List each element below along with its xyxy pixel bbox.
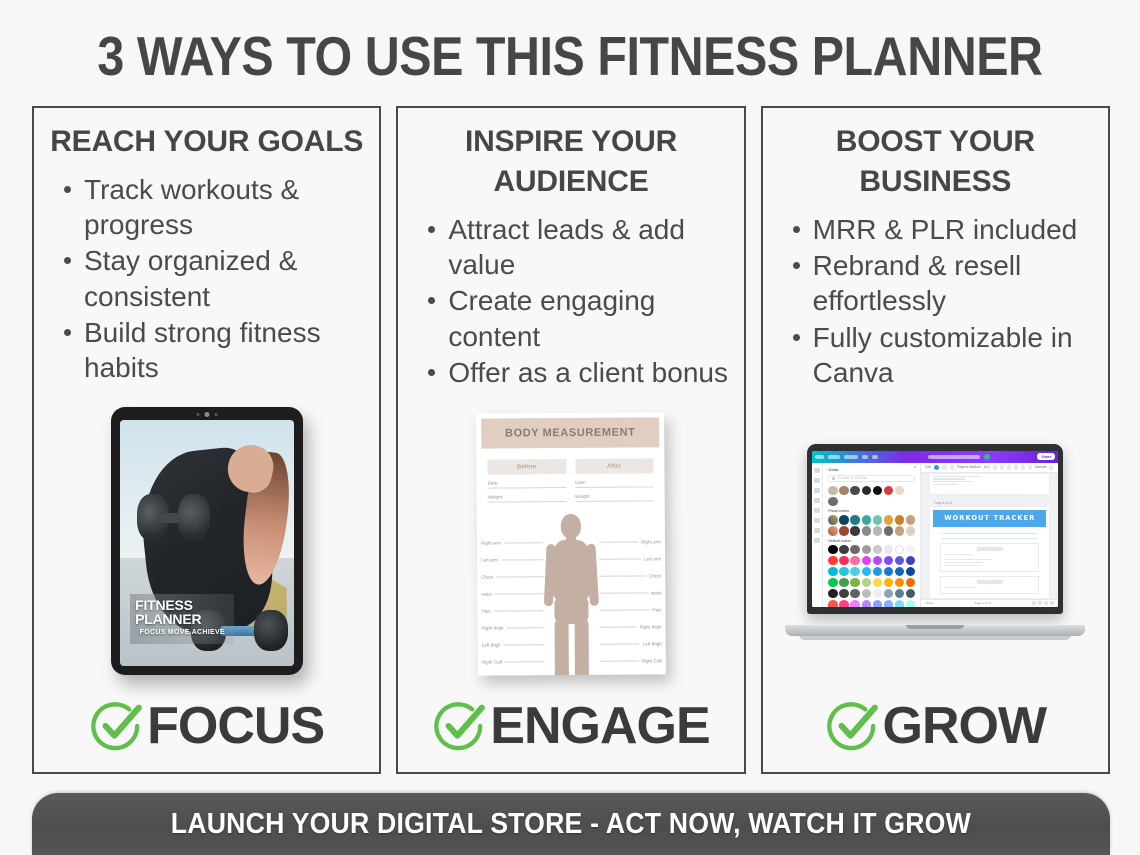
color-swatch[interactable] (895, 556, 904, 565)
measurement-label: Hips (481, 608, 490, 613)
topbar-menu-file[interactable] (815, 455, 824, 459)
list-item: Right arm (481, 534, 543, 551)
cover-subtitle: FOCUS MOVE ACHIEVE (135, 629, 229, 638)
laptop-mockup-visual: Share (769, 391, 1102, 696)
list-item: Right Calf (482, 653, 544, 670)
document-title[interactable] (928, 455, 980, 459)
color-swatch[interactable] (828, 578, 837, 587)
color-swatch[interactable] (884, 545, 893, 554)
color-swatch[interactable] (906, 556, 915, 565)
card-bullet-list: Track workouts & progress Stay organized… (40, 172, 373, 387)
underline-icon[interactable] (1007, 465, 1011, 470)
write-in-rule (600, 660, 639, 661)
measurement-label: Chest (649, 573, 661, 578)
color-swatch[interactable] (895, 515, 904, 524)
help-icon[interactable] (1050, 601, 1054, 605)
color-swatch[interactable] (862, 556, 871, 565)
card-bullet-list: MRR & PLR included Rebrand & resell effo… (769, 212, 1102, 391)
write-in-rule (495, 593, 544, 594)
measurement-label: Right thigh (640, 624, 662, 629)
panel-title: Color (828, 467, 915, 472)
measurement-label: Right arm (641, 539, 661, 544)
color-swatch[interactable] (884, 600, 893, 607)
write-in-rule (494, 610, 544, 611)
color-swatch[interactable] (839, 545, 848, 554)
dumbbell-icon (137, 494, 210, 541)
color-swatch[interactable] (884, 515, 893, 524)
tablet-device: FITNESS PLANNER FOCUS MOVE ACHIEVE (111, 407, 303, 675)
canva-topbar: Share (812, 451, 1058, 463)
uploads-tool-icon[interactable] (814, 508, 820, 513)
badge-grow: GROW (769, 696, 1102, 772)
crop-icon[interactable] (950, 465, 954, 470)
color-swatch[interactable] (850, 545, 859, 554)
canva-canvas-area: Edit Poppins Medium 14.2 (921, 463, 1058, 607)
before-label: Before (487, 459, 566, 475)
write-in-rule (501, 559, 543, 560)
italic-icon[interactable] (1000, 465, 1004, 470)
color-swatch[interactable] (828, 545, 837, 554)
measurement-label: Left thigh (482, 642, 501, 647)
color-swatch[interactable] (862, 486, 871, 495)
color-swatch[interactable] (850, 486, 859, 495)
page-indicator: Page 4 of 47 (929, 499, 1050, 506)
after-column: After Date: Weight: (575, 458, 654, 502)
sheet-body: Right arm Left arm Chest waist Hips Righ… (477, 511, 666, 675)
photo-colors-grid (828, 515, 915, 536)
color-swatch[interactable] (873, 578, 882, 587)
badge-engage: ENGAGE (404, 696, 737, 772)
align-icon[interactable] (1014, 465, 1018, 470)
color-swatch[interactable] (828, 567, 837, 576)
topbar-menu-home[interactable] (828, 455, 840, 459)
badge-label: GROW (883, 696, 1047, 756)
edit-button[interactable]: Edit (925, 465, 931, 470)
search-icon (832, 477, 835, 480)
card-bullet-list: Attract leads & add value Create engagin… (404, 212, 737, 391)
topbar-menu-editing[interactable] (844, 455, 858, 459)
badge-focus: FOCUS (40, 696, 373, 772)
measurement-label: Right Calf (482, 659, 502, 664)
list-item: MRR & PLR included (787, 212, 1096, 247)
list-item: Right thigh (482, 619, 544, 636)
check-circle-icon (89, 698, 145, 754)
search-placeholder: Try 'blue' or '#00c4cc' (837, 476, 867, 480)
bold-icon[interactable] (993, 465, 997, 470)
color-swatch[interactable] (884, 486, 893, 495)
color-swatch[interactable] (895, 567, 904, 576)
color-swatch[interactable] (828, 600, 837, 607)
color-swatch[interactable] (895, 578, 904, 587)
list-item: Left calf (600, 669, 662, 675)
write-in-rule (600, 626, 637, 627)
color-swatch[interactable] (884, 578, 893, 587)
measurement-sheet-visual: BODY MEASUREMENT Before Date: Weight: Af… (404, 391, 737, 696)
color-swatch[interactable] (850, 556, 859, 565)
color-swatch[interactable] (873, 556, 882, 565)
font-size-input[interactable]: 14.2 (984, 465, 990, 470)
color-swatch[interactable] (839, 600, 848, 607)
color-swatch[interactable] (839, 486, 848, 495)
list-item: Hips (599, 601, 661, 618)
list-item: Left thigh (600, 635, 662, 652)
write-in-rule (600, 643, 640, 644)
color-swatch[interactable] (906, 589, 915, 598)
canva-toolbar: Edit Poppins Medium 14.2 (921, 463, 1058, 473)
canva-workspace: × Color Try 'blue' or '#00c4cc' (812, 463, 1058, 607)
write-in-rule (504, 644, 544, 645)
projects-tool-icon[interactable] (814, 528, 820, 533)
list-item: Chest (481, 568, 543, 585)
canva-document-wrap: Page 4 of 47 WORKOUT TRACKER (921, 473, 1058, 599)
color-swatch[interactable] (884, 567, 893, 576)
card-heading: INSPIRE YOUR AUDIENCE (404, 122, 737, 202)
color-swatch[interactable] (895, 589, 904, 598)
color-swatch[interactable] (850, 526, 859, 535)
elements-tool-icon[interactable] (814, 478, 820, 483)
sheet-header: BODY MEASUREMENT (481, 417, 659, 448)
laptop-base (785, 625, 1085, 636)
color-swatch[interactable] (828, 515, 837, 524)
color-swatch[interactable] (884, 589, 893, 598)
card-inspire-your-audience: INSPIRE YOUR AUDIENCE Attract leads & ad… (396, 106, 745, 774)
color-swatch[interactable] (906, 600, 915, 607)
photo-colors-label: Photo colors (828, 509, 915, 513)
write-in-rule (504, 542, 543, 543)
laptop-lid: Share (807, 444, 1063, 614)
color-swatch[interactable] (873, 600, 882, 607)
color-swatch[interactable] (850, 589, 859, 598)
color-swatch[interactable] (895, 600, 904, 607)
tablet-cover-text: FITNESS PLANNER FOCUS MOVE ACHIEVE (130, 594, 234, 644)
text-tool-icon[interactable] (814, 488, 820, 493)
close-icon[interactable]: × (913, 466, 916, 471)
color-swatch[interactable] (862, 515, 871, 524)
check-circle-icon (432, 698, 488, 754)
share-button[interactable]: Share (1037, 453, 1055, 460)
color-swatch[interactable] (862, 600, 871, 607)
color-swatch[interactable] (906, 526, 915, 535)
measurement-label: Right Calf (642, 658, 662, 663)
body-measurement-sheet: BODY MEASUREMENT Before Date: Weight: Af… (476, 412, 666, 675)
after-date-field: Date: (575, 479, 654, 488)
write-in-rule (599, 609, 649, 610)
previous-page-preview[interactable] (929, 473, 1050, 495)
spacing-icon[interactable] (1028, 465, 1032, 470)
measurement-label: waist (481, 591, 492, 596)
tablet-mockup-visual: FITNESS PLANNER FOCUS MOVE ACHIEVE (40, 386, 373, 696)
write-in-rule (599, 592, 648, 593)
list-item: Attract leads & add value (422, 212, 731, 283)
measurement-label: Left thigh (643, 641, 662, 646)
measurement-label: Left arm (644, 556, 661, 561)
check-circle-icon (825, 698, 881, 754)
color-swatch[interactable] (884, 526, 893, 535)
card-heading: BOOST YOUR BUSINESS (769, 122, 1102, 202)
infographic-page: 3 WAYS TO USE THIS FITNESS PLANNER REACH… (0, 0, 1140, 855)
color-swatch[interactable] (862, 545, 871, 554)
list-item: Build strong fitness habits (58, 315, 367, 386)
cards-row: REACH YOUR GOALS Track workouts & progre… (32, 106, 1110, 774)
list-item: waist (481, 585, 543, 602)
body-silhouette (542, 513, 601, 675)
measurement-column-right: Right arm Left arm Chest waist Hips Righ… (599, 533, 662, 675)
document-colors-grid (828, 486, 915, 507)
color-swatch[interactable] (850, 515, 859, 524)
color-swatch[interactable] (873, 526, 882, 535)
before-after-row: Before Date: Weight: After Date: Weight: (476, 447, 664, 502)
image-icon[interactable] (942, 465, 947, 470)
write-in-rule (505, 661, 544, 662)
statusbar-icons (1032, 601, 1054, 605)
color-swatch[interactable] (906, 515, 915, 524)
redo-icon[interactable] (872, 455, 878, 459)
card-heading: REACH YOUR GOALS (40, 122, 373, 162)
write-in-rule (496, 576, 543, 577)
list-item: Hips (481, 602, 543, 619)
avatar[interactable] (984, 454, 990, 460)
color-swatch[interactable] (839, 556, 848, 565)
after-weight-field: Weight: (575, 493, 654, 502)
grid-view-icon[interactable] (1032, 601, 1036, 605)
color-swatch[interactable] (850, 578, 859, 587)
bottom-cta-banner: LAUNCH YOUR DIGITAL STORE - ACT NOW, WAT… (32, 793, 1110, 855)
write-in-rule (507, 627, 544, 628)
measurement-label: Chest (481, 574, 493, 579)
tablet-screen: FITNESS PLANNER FOCUS MOVE ACHIEVE (120, 420, 294, 666)
banner-text: LAUNCH YOUR DIGITAL STORE - ACT NOW, WAT… (171, 808, 971, 841)
card-reach-your-goals: REACH YOUR GOALS Track workouts & progre… (32, 106, 381, 774)
default-colors-grid (828, 545, 915, 607)
write-in-rule (599, 575, 646, 576)
color-search-input[interactable]: Try 'blue' or '#00c4cc' (828, 475, 915, 482)
laptop-screen: Share (812, 451, 1058, 607)
color-swatch[interactable] (906, 578, 915, 587)
color-swatch[interactable] (873, 515, 882, 524)
color-swatch[interactable] (850, 567, 859, 576)
measurement-label: waist (651, 590, 662, 595)
color-swatch[interactable] (850, 600, 859, 607)
brand-tool-icon[interactable] (814, 498, 820, 503)
list-item: Fully customizable in Canva (787, 320, 1096, 391)
doc-section-card (940, 543, 1039, 572)
card-boost-your-business: BOOST YOUR BUSINESS MRR & PLR included R… (761, 106, 1110, 774)
page-title: 3 WAYS TO USE THIS FITNESS PLANNER (68, 24, 1071, 88)
doc-section-card (940, 576, 1039, 594)
color-picker-button[interactable] (934, 465, 939, 470)
canva-statusbar: Notes Page 4 of 47 (921, 599, 1058, 607)
color-swatch[interactable] (839, 567, 848, 576)
canva-color-panel: × Color Try 'blue' or '#00c4cc' (823, 463, 921, 607)
color-swatch[interactable] (828, 526, 837, 535)
color-swatch[interactable] (884, 556, 893, 565)
color-swatch[interactable] (873, 567, 882, 576)
apps-tool-icon[interactable] (814, 538, 820, 543)
workout-tracker-title: WORKOUT TRACKER (944, 514, 1035, 522)
list-item: Track workouts & progress (58, 172, 367, 243)
badge-label: FOCUS (147, 696, 324, 756)
measurement-label: Left arm (481, 557, 498, 562)
color-swatch[interactable] (828, 556, 837, 565)
list-item: Create engaging content (422, 283, 731, 354)
undo-icon[interactable] (862, 455, 868, 459)
color-swatch[interactable] (895, 545, 904, 554)
more-options-icon[interactable] (1049, 465, 1053, 470)
color-swatch[interactable] (873, 589, 882, 598)
color-swatch[interactable] (862, 526, 871, 535)
list-item: Right thigh (600, 618, 662, 635)
laptop-notch (904, 444, 966, 451)
tablet-camera-icon (196, 412, 217, 417)
color-swatch[interactable] (906, 545, 915, 554)
color-swatch[interactable] (839, 589, 848, 598)
duplicate-icon[interactable] (1038, 601, 1042, 605)
color-swatch[interactable] (906, 567, 915, 576)
color-swatch[interactable] (873, 486, 882, 495)
badge-label: ENGAGE (490, 696, 709, 756)
color-swatch[interactable] (895, 526, 904, 535)
color-swatch[interactable] (862, 567, 871, 576)
color-swatch[interactable] (839, 526, 848, 535)
color-swatch[interactable] (895, 486, 904, 495)
design-tool-icon[interactable] (814, 468, 820, 473)
color-swatch[interactable] (828, 497, 837, 506)
after-label: After (575, 458, 654, 474)
list-item: Chest (599, 567, 661, 584)
list-item: Left thigh (482, 636, 544, 653)
cover-title-line2: PLANNER (135, 613, 229, 626)
font-name-select[interactable]: Poppins Medium (957, 465, 981, 470)
measurement-column-left: Right arm Left arm Chest waist Hips Righ… (481, 534, 544, 675)
write-in-rule (599, 558, 641, 559)
list-item: Left arm (481, 551, 543, 568)
laptop-device: Share (785, 444, 1085, 644)
list-item: Rebrand & resell effortlessly (787, 248, 1096, 319)
color-swatch[interactable] (862, 589, 871, 598)
color-swatch[interactable] (906, 486, 915, 495)
sheet-header-label: BODY MEASUREMENT (505, 426, 636, 439)
measurement-label: Right thigh (482, 625, 504, 630)
list-item: Stay organized & consistent (58, 243, 367, 314)
fullscreen-icon[interactable] (1044, 601, 1048, 605)
before-column: Before Date: Weight: (487, 459, 566, 503)
canva-page[interactable]: WORKOUT TRACKER (929, 506, 1050, 599)
page-count-label: Page 4 of 47 (974, 601, 991, 605)
draw-tool-icon[interactable] (814, 518, 820, 523)
list-item: Right Calf (600, 652, 662, 669)
workout-tracker-banner: WORKOUT TRACKER (933, 510, 1046, 527)
list-item: Right arm (599, 533, 661, 550)
list-item: Left calf (482, 670, 544, 675)
color-swatch[interactable] (839, 515, 848, 524)
list-item: waist (599, 584, 661, 601)
notes-button[interactable]: Notes (925, 601, 933, 605)
before-weight-field: Weight: (488, 494, 567, 503)
write-in-rule (599, 541, 638, 542)
measurement-label: Hips (652, 607, 661, 612)
list-icon[interactable] (1021, 465, 1025, 470)
list-item: Left arm (599, 550, 661, 567)
list-item: Offer as a client bonus (422, 355, 731, 390)
canva-left-rail (812, 463, 823, 607)
color-swatch[interactable] (828, 486, 837, 495)
measurement-label: Right arm (481, 540, 501, 545)
default-colors-label: Default colors (828, 539, 915, 543)
color-swatch[interactable] (828, 589, 837, 598)
color-swatch[interactable] (873, 545, 882, 554)
color-swatch[interactable] (839, 578, 848, 587)
before-date-field: Date: (488, 480, 567, 489)
color-swatch[interactable] (862, 578, 871, 587)
animate-button[interactable]: Animate (1035, 465, 1047, 470)
